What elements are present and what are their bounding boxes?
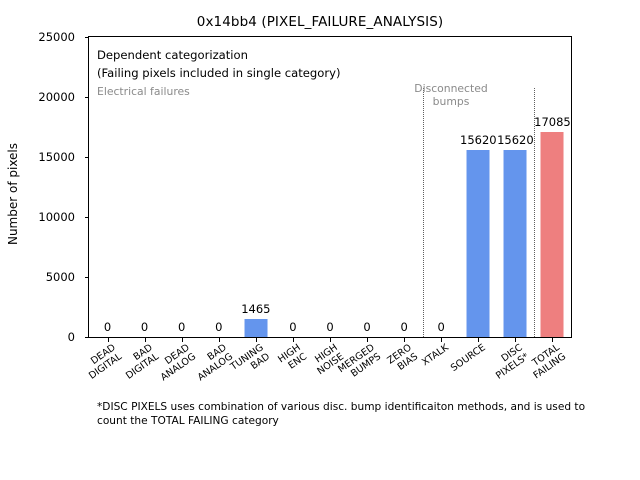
x-axis-tick-mark [552, 338, 553, 342]
x-axis-tick-mark [330, 338, 331, 342]
y-axis-tick-label: 10000 [38, 210, 75, 224]
bar[interactable] [467, 150, 490, 337]
y-axis-title: Number of pixels [6, 94, 20, 294]
bar-value-label: 15620 [497, 133, 534, 147]
annotation-electrical-failures: Electrical failures [97, 85, 190, 98]
bar-value-label: 0 [215, 320, 222, 334]
bar-value-label: 0 [326, 320, 333, 334]
bar-value-label: 0 [363, 320, 370, 334]
y-axis-tick-label: 15000 [38, 150, 75, 164]
x-axis-tick-mark [145, 338, 146, 342]
annotation-disconnected-bumps-line2: bumps [433, 95, 470, 108]
bar-value-label: 0 [400, 320, 407, 334]
y-axis-tick-label: 20000 [38, 90, 75, 104]
x-axis-tick-mark [515, 338, 516, 342]
y-axis-tick-label: 25000 [38, 30, 75, 44]
x-axis-tick-mark [293, 338, 294, 342]
x-axis-tick-labels: DEADDIGITALBADDIGITALDEADANALOGBADANALOG… [89, 343, 571, 403]
annotation-disconnected-bumps: Disconnected bumps [396, 82, 506, 108]
bar-value-label: 0 [289, 320, 296, 334]
x-axis-tick-mark [182, 338, 183, 342]
bar-group: 0 [89, 37, 126, 337]
x-axis-tick-mark [256, 338, 257, 342]
y-axis-tick-label: 0 [68, 330, 75, 344]
bar-group: 0 [126, 37, 163, 337]
x-axis-tick-mark [108, 338, 109, 342]
bar-group: 0 [200, 37, 237, 337]
bar-group: 0 [349, 37, 386, 337]
bar-group: 0 [274, 37, 311, 337]
annotation-dependent-categorization-line2: (Failing pixels included in single categ… [97, 66, 341, 80]
bar-group: 0 [311, 37, 348, 337]
bar-group: 1465 [237, 37, 274, 337]
electrical-disconnected-divider [423, 88, 424, 337]
footnote: *DISC PIXELS uses combination of various… [97, 400, 617, 428]
x-axis-tick-mark [441, 338, 442, 342]
bar-value-label: 0 [438, 320, 445, 334]
bar[interactable] [244, 319, 267, 337]
bar-value-label: 0 [178, 320, 185, 334]
x-axis-tick-mark [219, 338, 220, 342]
bar-value-label: 15620 [460, 133, 497, 147]
annotation-dependent-categorization-line1: Dependent categorization [97, 48, 248, 62]
x-axis-tick-mark [404, 338, 405, 342]
disc-total-divider [534, 88, 535, 337]
bar-value-label: 0 [104, 320, 111, 334]
bar[interactable] [541, 132, 564, 337]
bar-group: 17085 [534, 37, 571, 337]
chart-title: 0x14bb4 (PIXEL_FAILURE_ANALYSIS) [0, 14, 640, 30]
x-axis-tick-mark [478, 338, 479, 342]
bar-value-label: 0 [141, 320, 148, 334]
x-axis-tick-mark [367, 338, 368, 342]
bar-group: 0 [163, 37, 200, 337]
annotation-disconnected-bumps-line1: Disconnected [414, 82, 487, 95]
bar-value-label: 17085 [534, 115, 571, 129]
bar-value-label: 1465 [241, 302, 270, 316]
bar[interactable] [504, 150, 527, 337]
y-axis-tick-label: 5000 [46, 270, 75, 284]
